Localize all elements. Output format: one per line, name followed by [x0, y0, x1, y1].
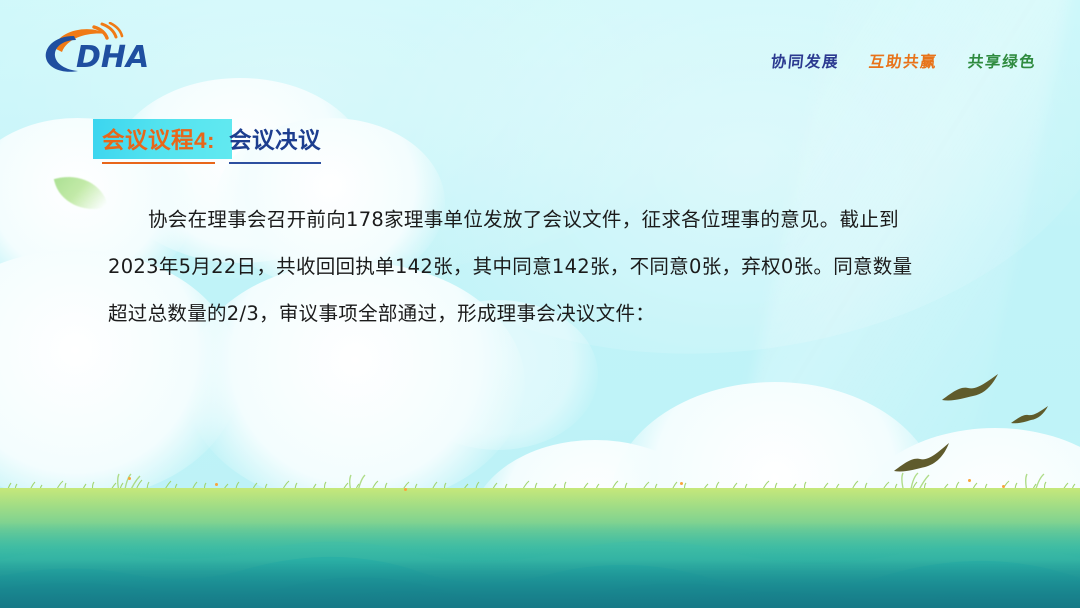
- slogan-collaborative-development: 协同发展: [770, 50, 841, 72]
- flower-dot: [680, 482, 683, 485]
- presentation-slide: DHA 协同发展 互助共赢 共享绿色 会议议程4: 会议决议 协会在理事会召开前…: [0, 0, 1080, 608]
- body-line-3: 超过总数量的2/3，审议事项全部通过，形成理事会决议文件：: [108, 290, 978, 337]
- body-paragraph: 协会在理事会召开前向178家理事单位发放了会议文件，征求各位理事的意见。截止到 …: [108, 196, 978, 337]
- meadow-shadow-layer: [0, 560, 1080, 608]
- slogan-mutual-win: 互助共赢: [868, 50, 939, 72]
- meadow-landscape: [0, 478, 1080, 608]
- page-title: 会议议程4: 会议决议: [93, 119, 325, 161]
- slogan-shared-green: 共享绿色: [966, 50, 1037, 72]
- bird-icon: [940, 372, 1002, 406]
- flower-dot: [215, 483, 218, 486]
- title-agenda-subject: 会议决议: [229, 121, 321, 164]
- bird-icon: [893, 440, 953, 476]
- body-line-1: 协会在理事会召开前向178家理事单位发放了会议文件，征求各位理事的意见。截止到: [108, 196, 978, 243]
- flower-dot: [968, 479, 971, 482]
- flower-dot: [404, 488, 407, 491]
- title-agenda-label: 会议议程4:: [102, 121, 215, 164]
- flower-dot: [1002, 485, 1005, 488]
- slogan-group: 协同发展 互助共赢 共享绿色: [771, 50, 1036, 72]
- flower-dot: [128, 477, 131, 480]
- logo-text: DHA: [76, 40, 149, 75]
- body-line-2: 2023年5月22日，共收回回执单142张，其中同意142张，不同意0张，弃权0…: [108, 243, 978, 290]
- bird-icon: [1010, 405, 1050, 427]
- cdha-logo-icon: DHA: [34, 22, 184, 78]
